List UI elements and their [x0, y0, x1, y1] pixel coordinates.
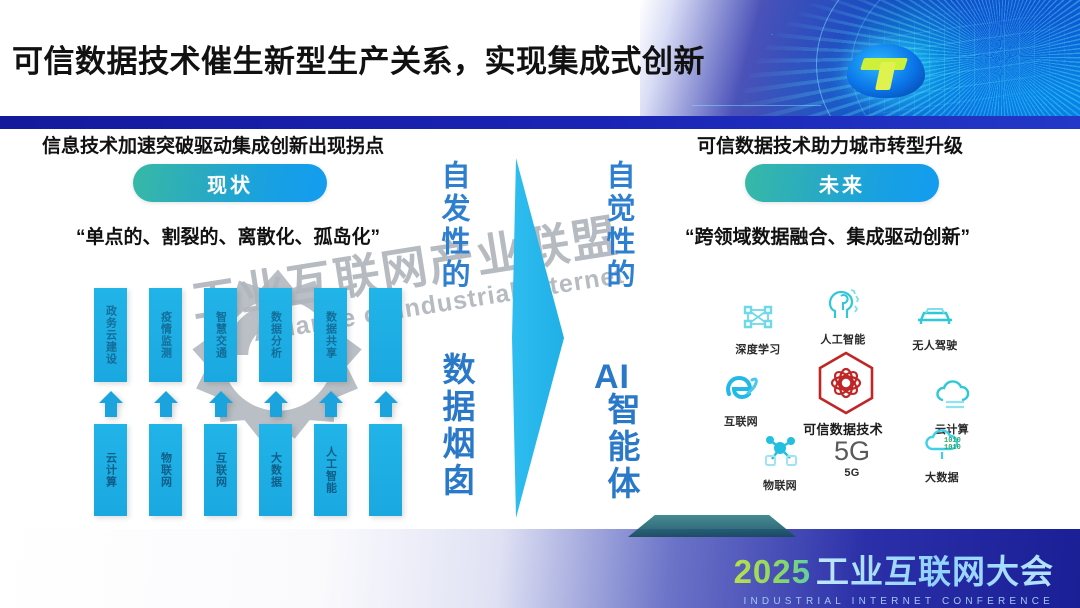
top-bar	[369, 288, 402, 382]
slide-root: 可信数据技术催生新型生产关系，实现集成式创新 工业互联网产业联盟 Allianc…	[0, 0, 1080, 608]
cloud-server-icon	[916, 380, 988, 419]
top-bar: 疫情监测	[149, 288, 182, 382]
bottom-bar: 物联网	[149, 424, 182, 516]
node-label: 互联网	[706, 413, 776, 429]
node-label: 人工智能	[805, 331, 881, 347]
bottom-bar-label: 人工智能	[323, 446, 339, 494]
conference-name-en: INDUSTRIAL INTERNET CONFERENCE	[734, 596, 1054, 607]
top-bar-label: 智慧交通	[213, 311, 229, 359]
node-trusted-data-tech: 可信数据技术	[800, 350, 892, 438]
t-emblem-icon	[847, 44, 925, 98]
upward-arrows-group	[94, 389, 414, 421]
big-data-cloud-icon: 1010 1010	[905, 426, 979, 467]
center-right-top-label: 自觉性的	[597, 160, 639, 292]
page-title: 可信数据技术催生新型生产关系，实现集成式创新	[12, 36, 705, 81]
current-state-bottom-bars: 云计算物联网互联网大数据人工智能	[94, 424, 414, 516]
conference-logo: 2025 工业互联网大会 INDUSTRIAL INTERNET CONFERE…	[734, 545, 1054, 607]
arrow-up-icon	[151, 389, 181, 419]
conference-name-cn: 工业互联网大会	[816, 545, 1054, 593]
right-status-pill: 未来	[745, 164, 939, 202]
svg-text:1010: 1010	[944, 444, 961, 452]
left-section-subtitle: “单点的、割裂的、离散化、孤岛化”	[76, 222, 380, 249]
node-label: 大数据	[905, 469, 979, 485]
conference-year: 2025	[734, 553, 811, 591]
chevron-right-icon	[498, 152, 570, 524]
iot-nodes-icon	[742, 430, 818, 475]
node-sublabel: 5G	[822, 467, 882, 479]
center-left-bottom-label: 数据烟囱	[432, 352, 480, 500]
top-bar: 政务云建设	[94, 288, 127, 382]
five-g-icon: 5G	[822, 438, 882, 465]
trusted-data-hexagon-icon	[800, 350, 892, 421]
autonomous-car-icon	[895, 302, 975, 335]
header-tech-graphic	[640, 0, 1080, 122]
bottom-bar-label: 物联网	[158, 452, 174, 488]
arrow-up-icon	[96, 389, 126, 419]
right-section-subtitle: “跨领域数据融合、集成驱动创新”	[685, 222, 970, 249]
top-bar: 数据共享	[314, 288, 347, 382]
tech-icon-cluster: 深度学习 人工智能 无人驾驶	[700, 288, 1000, 516]
bottom-bar-label: 云计算	[103, 452, 119, 488]
brain-head-icon	[805, 284, 881, 329]
node-autonomous-driving: 无人驾驶	[895, 302, 975, 353]
top-bar-label: 疫情监测	[158, 311, 174, 359]
current-state-top-bars: 政务云建设疫情监测智慧交通数据分析数据共享	[94, 288, 414, 382]
internet-explorer-icon	[706, 372, 776, 411]
bottom-bar-label: 互联网	[213, 452, 229, 488]
bottom-bar: 大数据	[259, 424, 292, 516]
bottom-bar: 互联网	[204, 424, 237, 516]
node-label: 深度学习	[720, 341, 796, 357]
bottom-bar	[369, 424, 402, 516]
node-label: 无人驾驶	[895, 337, 975, 353]
arrow-up-icon	[371, 389, 401, 419]
node-deep-learning: 深度学习	[720, 300, 796, 357]
node-iot: 物联网	[742, 430, 818, 493]
node-ai: 人工智能	[805, 284, 881, 347]
podium-shape	[628, 515, 796, 537]
bottom-bar: 人工智能	[314, 424, 347, 516]
bottom-bar-label: 大数据	[268, 452, 284, 488]
arrow-up-icon	[261, 389, 291, 419]
node-big-data: 1010 1010 大数据	[905, 426, 979, 485]
center-left-top-label: 自发性的	[432, 160, 474, 292]
node-label: 物联网	[742, 477, 818, 493]
node-internet: 互联网	[706, 372, 776, 429]
top-bar-label: 政务云建设	[103, 305, 119, 365]
top-bar: 智慧交通	[204, 288, 237, 382]
bottom-bar: 云计算	[94, 424, 127, 516]
top-bar-label: 数据分析	[268, 311, 284, 359]
center-right-bottom-label: 智能体	[597, 392, 645, 503]
left-section-heading: 信息技术加速突破驱动集成创新出现拐点	[42, 131, 384, 158]
footer-band: 2025 工业互联网大会 INDUSTRIAL INTERNET CONFERE…	[0, 529, 1080, 608]
top-bar: 数据分析	[259, 288, 292, 382]
right-section-heading: 可信数据技术助力城市转型升级	[697, 131, 963, 158]
navy-divider	[0, 116, 1080, 129]
node-5g: 5G 5G	[822, 438, 882, 479]
left-status-pill: 现状	[133, 164, 327, 202]
neural-network-icon	[720, 300, 796, 339]
arrow-up-icon	[206, 389, 236, 419]
arrow-up-icon	[316, 389, 346, 419]
top-bar-label: 数据共享	[323, 311, 339, 359]
